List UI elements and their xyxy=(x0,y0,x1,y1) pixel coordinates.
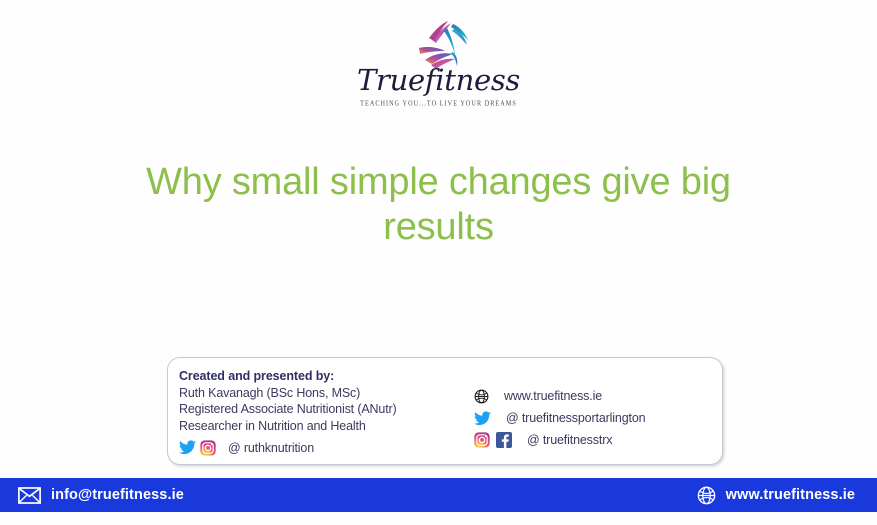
envelope-icon xyxy=(18,487,41,504)
twitter-handle-text[interactable]: @ truefitnessportarlington xyxy=(506,411,645,425)
presenter-credential: Registered Associate Nutritionist (ANutr… xyxy=(179,401,468,418)
logo-tagline: TEACHING YOU...TO LIVE YOUR DREAMS xyxy=(360,99,517,107)
logo-wordmark: Truefitness xyxy=(357,66,520,95)
footer-website-text[interactable]: www.truefitness.ie xyxy=(726,487,855,503)
brand-logo: Truefitness TEACHING YOU...TO LIVE YOUR … xyxy=(0,18,877,107)
footer-bar: info@truefitness.ie www.truefitness.ie xyxy=(0,478,877,512)
globe-icon xyxy=(697,486,716,505)
brand-contacts: www.truefitness.ie @ truefitnessportarli… xyxy=(468,358,722,464)
presenter-handle-text: @ ruthknutrition xyxy=(228,441,314,455)
presenter-role: Researcher in Nutrition and Health xyxy=(179,418,468,435)
slide-title: Why small simple changes give big result… xyxy=(130,160,747,250)
footer-email-text[interactable]: info@truefitness.ie xyxy=(51,487,184,503)
website-text[interactable]: www.truefitness.ie xyxy=(504,389,602,403)
contact-row-twitter: @ truefitnessportarlington xyxy=(474,407,722,429)
twitter-icon[interactable] xyxy=(474,411,491,426)
twitter-icon[interactable] xyxy=(179,440,196,455)
footer-email-group[interactable]: info@truefitness.ie xyxy=(18,487,184,504)
presenter-info-card: Created and presented by: Ruth Kavanagh … xyxy=(167,357,723,465)
presenter-heading: Created and presented by: xyxy=(179,368,468,385)
footer-website-group[interactable]: www.truefitness.ie xyxy=(697,486,855,505)
contact-row-website: www.truefitness.ie xyxy=(474,385,722,407)
instagram-icon[interactable] xyxy=(474,432,490,448)
facebook-icon[interactable] xyxy=(496,432,512,448)
presenter-name: Ruth Kavanagh (BSc Hons, MSc) xyxy=(179,385,468,402)
presentation-slide: Truefitness TEACHING YOU...TO LIVE YOUR … xyxy=(0,0,877,525)
globe-icon xyxy=(474,389,489,404)
instagram-icon[interactable] xyxy=(200,440,216,456)
contact-row-instagram-facebook: @ truefitnesstrx xyxy=(474,429,722,451)
instagram-handle-text[interactable]: @ truefitnesstrx xyxy=(527,433,612,447)
presenter-social-row: @ ruthknutrition xyxy=(179,440,468,456)
presenter-details: Created and presented by: Ruth Kavanagh … xyxy=(168,358,468,464)
